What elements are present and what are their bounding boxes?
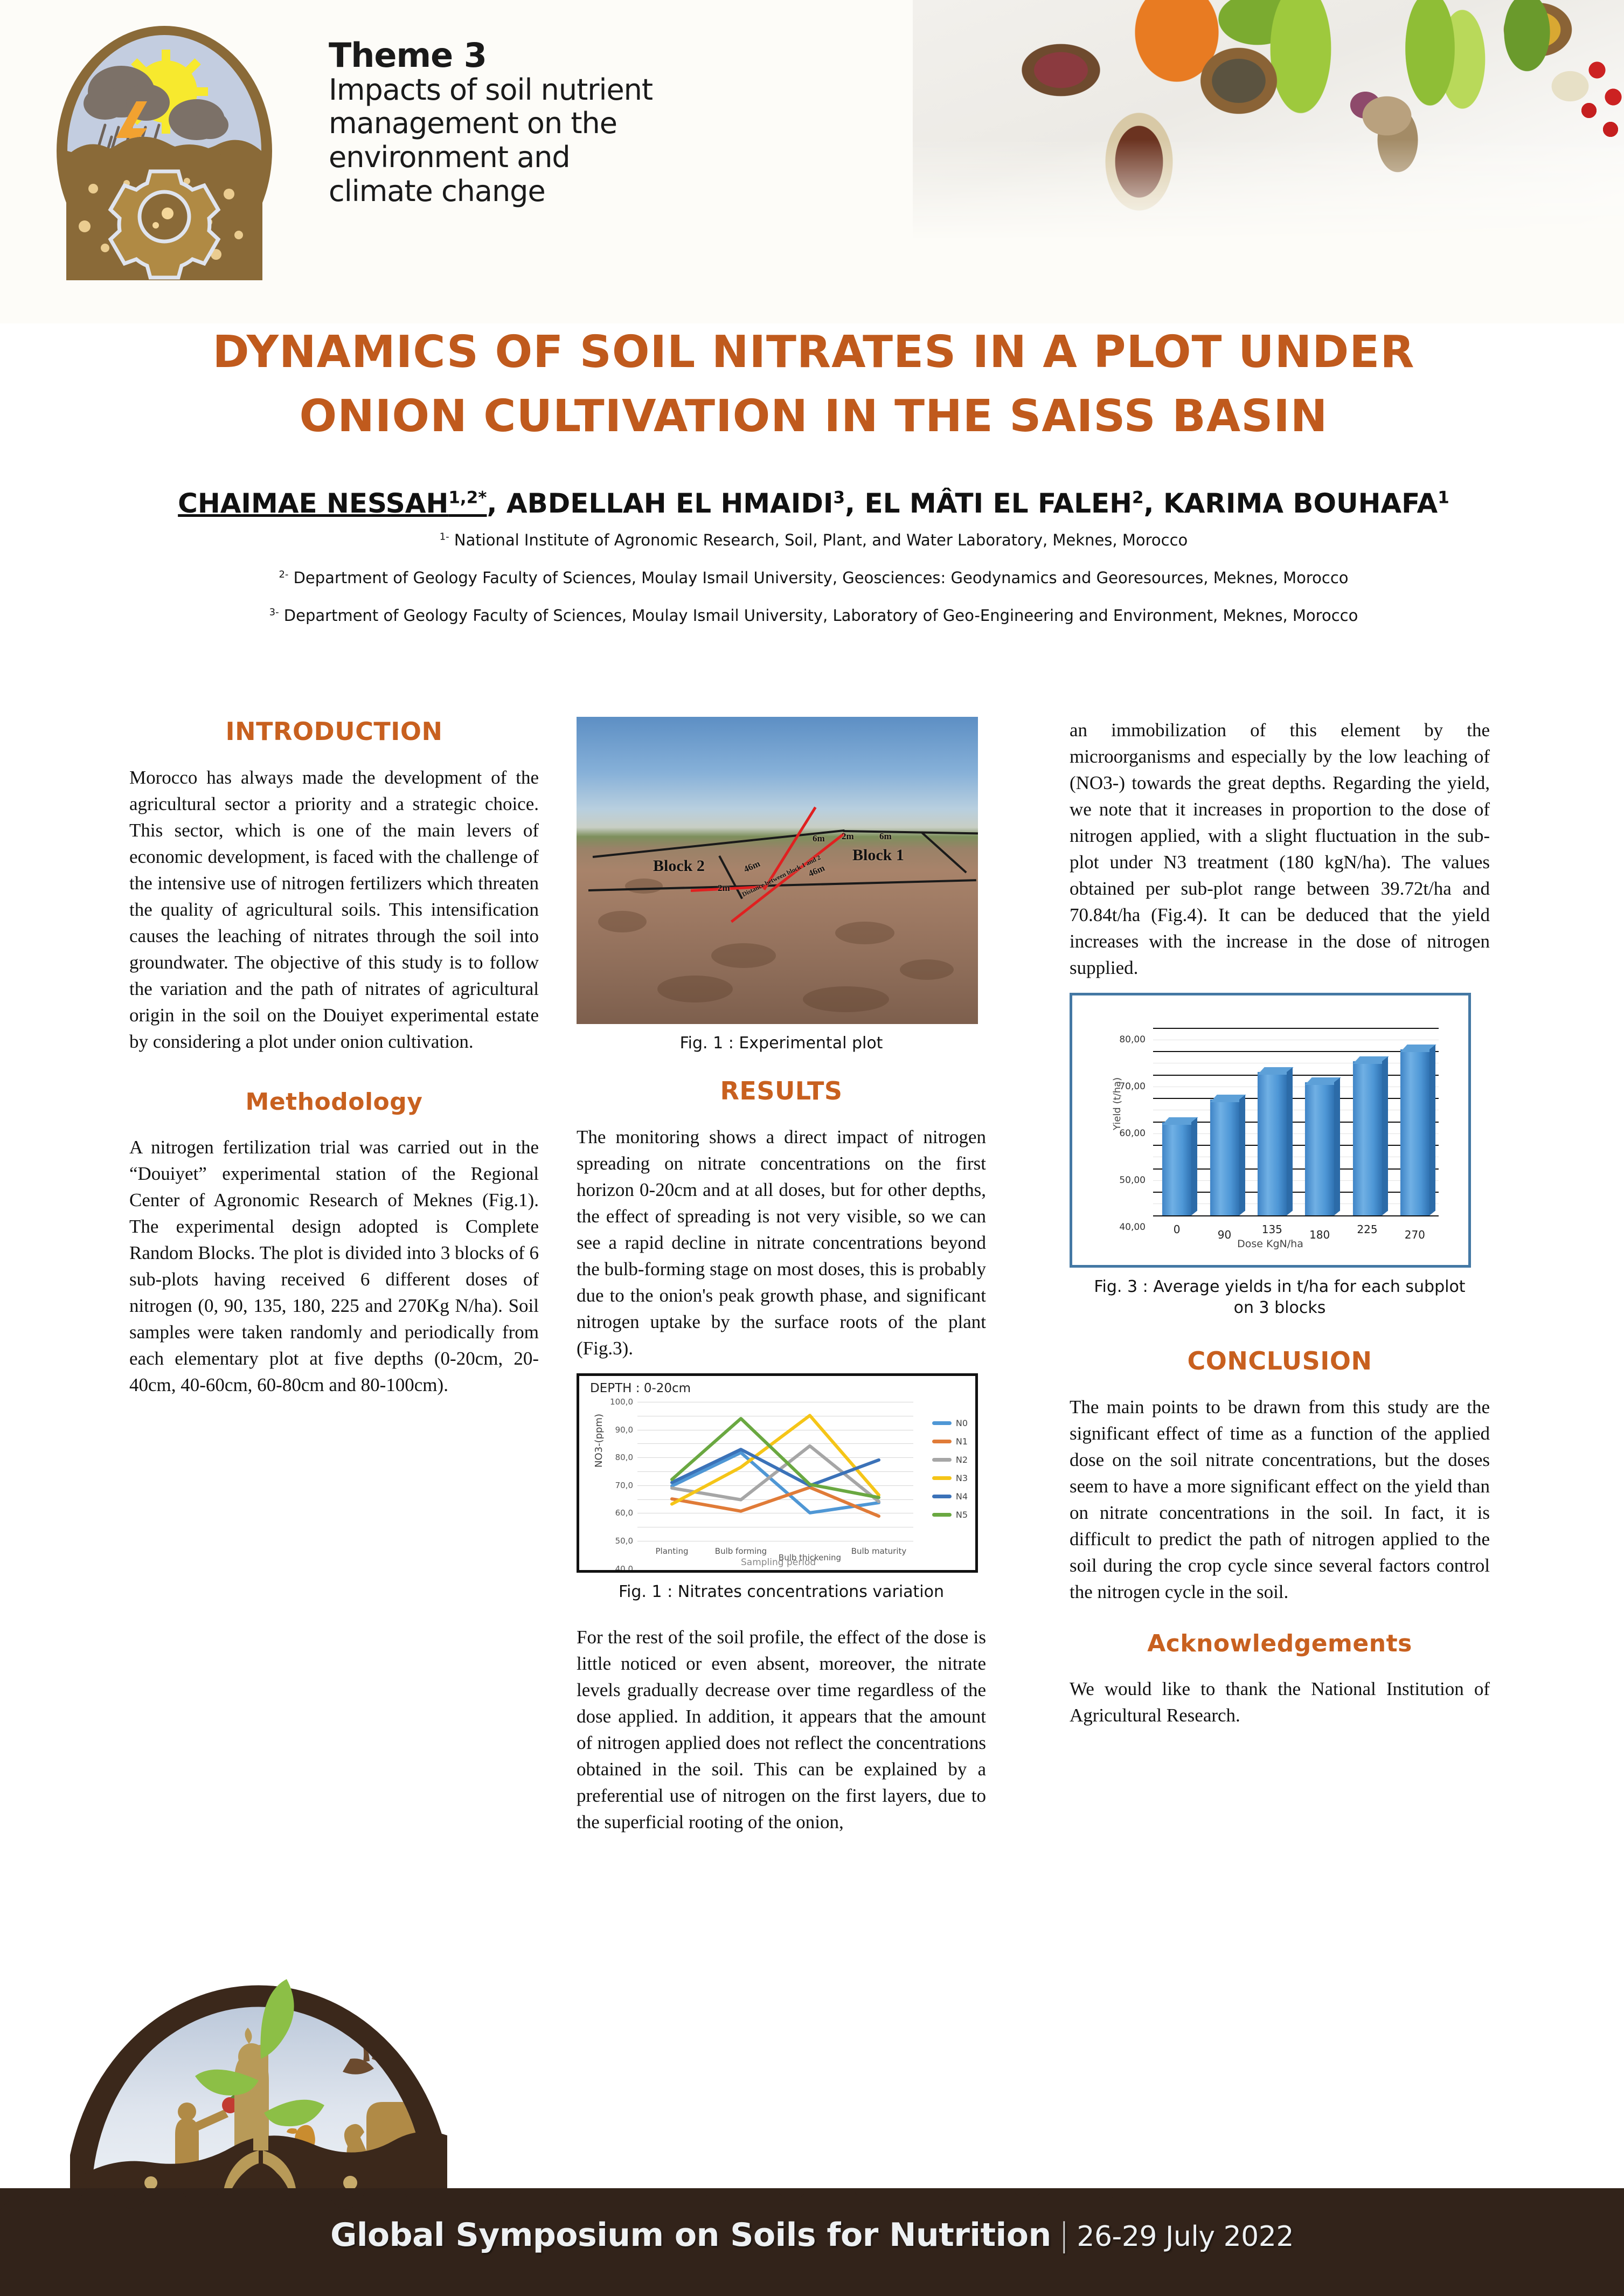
bar-chart-caption: Fig. 3 : Average yields in t/ha for each… bbox=[1070, 1276, 1490, 1318]
legend-label-N0: N0 bbox=[956, 1418, 968, 1428]
poster-title: DYNAMICS OF SOIL NITRATES IN A PLOT UNDE… bbox=[32, 321, 1595, 449]
legend-label-N3: N3 bbox=[956, 1473, 968, 1483]
results-body-3: an immobilization of this element by the… bbox=[1070, 717, 1490, 981]
bar-chart-x-tick: 225 bbox=[1357, 1223, 1377, 1236]
bar-chart-caption-line-2: on 3 blocks bbox=[1070, 1297, 1490, 1318]
line-chart-y-tick: 80,0 bbox=[615, 1453, 633, 1462]
poster-title-line-1: DYNAMICS OF SOIL NITRATES IN A PLOT UNDE… bbox=[32, 321, 1595, 385]
author-2-name: , ABDELLAH EL HMAIDI bbox=[487, 488, 834, 519]
bar-chart-y-tick: 60,00 bbox=[1119, 1128, 1146, 1139]
photo-label-46m-left: 46m bbox=[742, 859, 762, 875]
author-4-name: , KARIMA BOUHAFA bbox=[1144, 488, 1438, 519]
legend-swatch-N5 bbox=[932, 1513, 952, 1517]
theme-subtitle-line-1: Impacts of soil nutrient bbox=[329, 73, 841, 107]
affiliation-3: 3- Department of Geology Faculty of Scie… bbox=[32, 606, 1595, 625]
line-chart-depth-label: DEPTH : 0-20cm bbox=[590, 1381, 691, 1395]
footer-bar: Global Symposium on Soils for Nutrition|… bbox=[0, 2188, 1624, 2296]
legend-label-N5: N5 bbox=[956, 1510, 968, 1520]
legend-swatch-N3 bbox=[932, 1476, 952, 1480]
bar-side-face bbox=[1382, 1057, 1388, 1215]
photo-label-2m-bottom: 2m bbox=[718, 883, 730, 894]
line-chart-legend-item: N3 bbox=[932, 1473, 968, 1483]
column-middle: Block 2 Block 1 6m 2m 6m 46m 46m 2m Dist… bbox=[577, 717, 986, 1847]
affiliation-1-marker: 1- bbox=[440, 531, 449, 542]
bar-chart-x-tick: 135 bbox=[1262, 1223, 1282, 1236]
bar-chart-bar bbox=[1305, 1082, 1334, 1215]
photo-label-6m-right: 6m bbox=[879, 831, 892, 842]
line-chart-series-group bbox=[637, 1402, 913, 1541]
legend-swatch-N0 bbox=[932, 1421, 952, 1425]
nitrates-line-chart: DEPTH : 0-20cm NO3-(ppm) Sampling period… bbox=[577, 1373, 978, 1573]
top-banner: Theme 3 Impacts of soil nutrient managem… bbox=[0, 0, 1624, 323]
photo-label-2m-top: 2m bbox=[842, 831, 854, 842]
bar-chart-minor-gridline bbox=[1153, 1110, 1439, 1110]
line-chart-legend-item: N0 bbox=[932, 1418, 968, 1428]
legend-label-N1: N1 bbox=[956, 1436, 968, 1447]
footer-dates: 26-29 July 2022 bbox=[1077, 2221, 1294, 2253]
bar-chart-gridline: 80,00 bbox=[1153, 1028, 1439, 1029]
introduction-body: Morocco has always made the development … bbox=[129, 764, 539, 1055]
bar-chart-x-axis-label: Dose KgN/ha bbox=[1072, 1238, 1468, 1250]
bar-side-face bbox=[1287, 1068, 1293, 1215]
line-chart-legend-item: N1 bbox=[932, 1436, 968, 1447]
line-chart-y-tick: 60,0 bbox=[615, 1508, 633, 1518]
bar-chart-bar bbox=[1258, 1072, 1287, 1215]
theme-subtitle-line-2: management on the bbox=[329, 107, 841, 141]
photo-label-6m-left: 6m bbox=[813, 833, 825, 844]
bar-chart-y-tick: 80,00 bbox=[1119, 1034, 1146, 1045]
bar-chart-y-tick: 70,00 bbox=[1119, 1081, 1146, 1092]
theme-subtitle-line-3: environment and bbox=[329, 141, 841, 175]
soil-climate-logo bbox=[51, 22, 277, 280]
bar-chart-minor-gridline bbox=[1153, 1063, 1439, 1063]
conclusion-heading: CONCLUSION bbox=[1070, 1346, 1490, 1375]
line-chart-y-axis-label: NO3-(ppm) bbox=[593, 1414, 605, 1468]
acknowledgements-body: We would like to thank the National Inst… bbox=[1070, 1676, 1490, 1728]
bar-chart-gridline: 0,00 bbox=[1153, 1215, 1439, 1216]
vegetables-photo bbox=[913, 0, 1624, 253]
bar-chart-plot-area: 0,0010,0020,0030,0040,0050,0060,0070,008… bbox=[1153, 1016, 1439, 1215]
theme-number: Theme 3 bbox=[329, 38, 841, 73]
line-chart-x-tick: Planting bbox=[637, 1546, 707, 1556]
author-3-sup: 2 bbox=[1132, 488, 1144, 507]
line-chart-legend-item: N2 bbox=[932, 1455, 968, 1465]
yield-bar-chart: Yield (t/ha) 0,0010,0020,0030,0040,0050,… bbox=[1070, 993, 1471, 1268]
affiliation-2: 2- Department of Geology Faculty of Scie… bbox=[32, 569, 1595, 587]
line-chart-y-tick: 100,0 bbox=[610, 1397, 633, 1407]
line-chart-legend: N0N1N2N3N4N5 bbox=[932, 1418, 968, 1528]
author-4-sup: 1 bbox=[1438, 488, 1449, 507]
soil-life-illustration bbox=[70, 1897, 447, 2231]
footer-separator: | bbox=[1059, 2216, 1070, 2254]
bar-chart-bar bbox=[1353, 1061, 1382, 1215]
results-body-2: For the rest of the soil profile, the ef… bbox=[577, 1624, 986, 1835]
conclusion-body: The main points to be drawn from this st… bbox=[1070, 1394, 1490, 1605]
line-chart-plot-area: 0,010,020,030,040,050,060,070,080,090,01… bbox=[637, 1402, 913, 1541]
affiliation-2-text: Department of Geology Faculty of Science… bbox=[288, 569, 1348, 587]
photo-label-block-2: Block 2 bbox=[653, 857, 705, 875]
column-right: an immobilization of this element by the… bbox=[1070, 717, 1490, 1740]
line-chart-caption: Fig. 1 : Nitrates concentrations variati… bbox=[577, 1581, 986, 1602]
line-chart-gridline: 0,0 bbox=[637, 1541, 913, 1541]
affiliation-3-text: Department of Geology Faculty of Science… bbox=[279, 606, 1358, 625]
bar-chart-minor-gridline bbox=[1153, 1087, 1439, 1087]
bar-side-face bbox=[1429, 1045, 1435, 1215]
author-lead-sup: 1,2* bbox=[448, 488, 487, 507]
bar-chart-minor-gridline bbox=[1153, 1040, 1439, 1040]
affiliation-1-text: National Institute of Agronomic Research… bbox=[449, 531, 1188, 549]
affiliation-2-marker: 2- bbox=[279, 569, 288, 580]
bar-chart-gridline: 50,00 bbox=[1153, 1098, 1439, 1099]
photo-caption: Fig. 1 : Experimental plot bbox=[577, 1033, 986, 1054]
line-chart-series-N4 bbox=[672, 1449, 879, 1485]
bar-chart-y-tick: 50,00 bbox=[1119, 1175, 1146, 1186]
bar-chart-gridline: 70,00 bbox=[1153, 1051, 1439, 1052]
acknowledgements-heading: Acknowledgements bbox=[1070, 1630, 1490, 1657]
legend-swatch-N2 bbox=[932, 1458, 952, 1462]
poster-title-line-2: ONION CULTIVATION IN THE SAISS BASIN bbox=[32, 385, 1595, 449]
bar-chart-bar bbox=[1400, 1049, 1429, 1215]
bar-chart-y-tick: 40,00 bbox=[1119, 1222, 1146, 1233]
legend-swatch-N4 bbox=[932, 1495, 952, 1498]
line-chart-legend-item: N5 bbox=[932, 1510, 968, 1520]
line-chart-y-tick: 50,0 bbox=[615, 1536, 633, 1546]
line-chart-x-tick: Bulb thickening bbox=[775, 1553, 845, 1562]
methodology-body: A nitrogen fertilization trial was carri… bbox=[129, 1134, 539, 1398]
introduction-heading: INTRODUCTION bbox=[129, 717, 539, 746]
theme-subtitle-line-4: climate change bbox=[329, 175, 841, 209]
author-list: CHAIMAE NESSAH1,2*, ABDELLAH EL HMAIDI3,… bbox=[32, 488, 1595, 519]
experimental-plot-photo: Block 2 Block 1 6m 2m 6m 46m 46m 2m Dist… bbox=[577, 717, 978, 1024]
bar-chart-caption-line-1: Fig. 3 : Average yields in t/ha for each… bbox=[1070, 1276, 1490, 1297]
legend-label-N2: N2 bbox=[956, 1455, 968, 1465]
line-chart-y-tick: 70,0 bbox=[615, 1481, 633, 1490]
bar-chart-gridline: 60,00 bbox=[1153, 1075, 1439, 1076]
photo-label-block-1: Block 1 bbox=[852, 846, 904, 865]
author-3-name: , EL MÂTI EL FALEH bbox=[845, 488, 1132, 519]
bar-side-face bbox=[1334, 1077, 1340, 1215]
bar-chart-bar bbox=[1210, 1099, 1239, 1215]
line-chart-x-tick: Bulb maturity bbox=[844, 1546, 914, 1556]
line-chart-x-tick: Bulb forming bbox=[706, 1546, 776, 1556]
bar-side-face bbox=[1239, 1095, 1245, 1215]
affiliation-3-marker: 3- bbox=[269, 606, 279, 618]
methodology-heading: Methodology bbox=[129, 1088, 539, 1116]
footer-symposium-title: Global Symposium on Soils for Nutrition bbox=[330, 2216, 1051, 2254]
theme-text-block: Theme 3 Impacts of soil nutrient managem… bbox=[329, 38, 841, 208]
results-body-1: The monitoring shows a direct impact of … bbox=[577, 1124, 986, 1361]
footer-title-line: Global Symposium on Soils for Nutrition|… bbox=[0, 2216, 1624, 2254]
line-chart-legend-item: N4 bbox=[932, 1491, 968, 1502]
bar-side-face bbox=[1191, 1118, 1197, 1215]
line-chart-y-tick: 90,0 bbox=[615, 1425, 633, 1435]
legend-swatch-N1 bbox=[932, 1440, 952, 1443]
line-chart-y-tick: 40,0 bbox=[615, 1564, 633, 1573]
affiliation-1: 1- National Institute of Agronomic Resea… bbox=[32, 531, 1595, 549]
column-left: INTRODUCTION Morocco has always made the… bbox=[129, 717, 539, 1410]
results-heading: RESULTS bbox=[577, 1076, 986, 1105]
bar-chart-bar bbox=[1162, 1122, 1191, 1215]
author-lead-name: CHAIMAE NESSAH bbox=[178, 488, 448, 519]
author-2-sup: 3 bbox=[833, 488, 845, 507]
legend-label-N4: N4 bbox=[956, 1491, 968, 1502]
bar-chart-x-tick: 0 bbox=[1174, 1223, 1181, 1236]
